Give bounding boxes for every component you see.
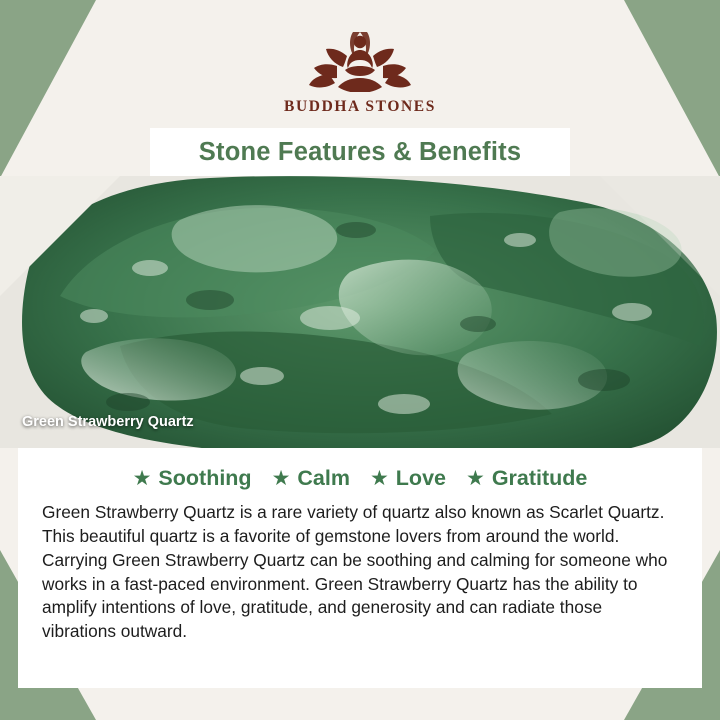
keyword-label: Soothing [158, 466, 251, 491]
star-icon: ★ [466, 468, 485, 489]
brand-logo-block: BUDDHA STONES [0, 20, 720, 116]
keyword-item: ★ Soothing [133, 466, 252, 491]
hero-caption: Green Strawberry Quartz [22, 414, 194, 430]
lotus-buddha-icon [285, 20, 435, 92]
star-icon: ★ [370, 468, 389, 489]
star-icon: ★ [133, 468, 152, 489]
page-title: Stone Features & Benefits [199, 138, 521, 167]
star-icon: ★ [272, 468, 291, 489]
keyword-label: Calm [297, 466, 350, 491]
description-paragraph: Green Strawberry Quartz is a rare variet… [42, 501, 678, 644]
keyword-item: ★ Calm [272, 466, 350, 491]
keyword-list: ★ Soothing ★ Calm ★ Love ★ Gratitude [42, 466, 678, 491]
product-info-card: BUDDHA STONES Stone Features & Benefits [0, 0, 720, 720]
brand-name: BUDDHA STONES [284, 98, 436, 116]
benefits-card: ★ Soothing ★ Calm ★ Love ★ Gratitude Gre… [18, 448, 702, 688]
keyword-label: Love [396, 466, 446, 491]
green-strawberry-quartz-illustration [0, 176, 720, 448]
hero-image: Green Strawberry Quartz [0, 176, 720, 448]
keyword-item: ★ Love [370, 466, 446, 491]
keyword-label: Gratitude [492, 466, 588, 491]
section-title-bar: Stone Features & Benefits [150, 128, 570, 176]
keyword-item: ★ Gratitude [466, 466, 587, 491]
